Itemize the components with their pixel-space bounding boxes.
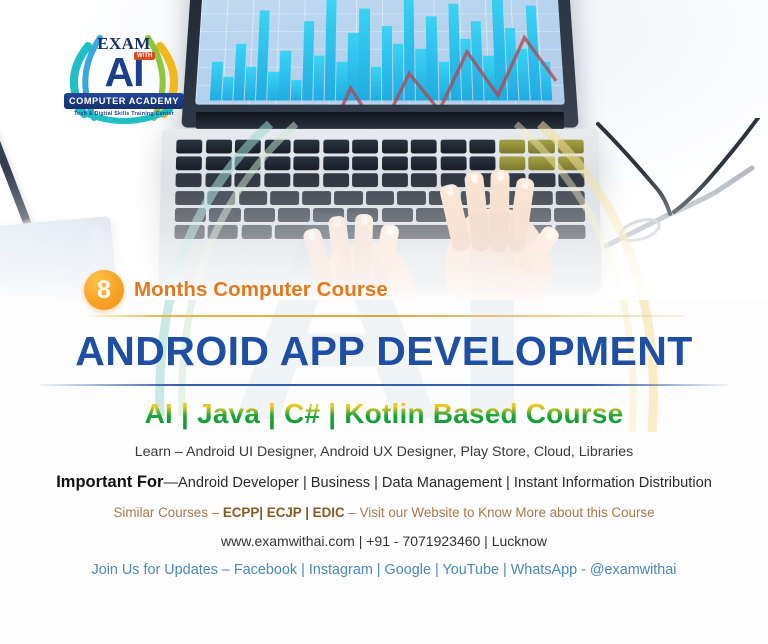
important-for-separator: — <box>163 475 178 491</box>
blue-divider <box>39 384 729 386</box>
keyboard-key <box>323 140 349 154</box>
logo-with-badge: WITH <box>134 52 155 60</box>
logo-academy-band: COMPUTER ACADEMY <box>64 93 184 109</box>
similar-courses-prefix: Similar Courses – <box>113 505 222 520</box>
course-advertisement-poster: AI EXAM AI WITH COMPUTER ACADEMY Tech & … <box>0 0 768 644</box>
months-number-badge: 8 <box>84 270 124 310</box>
logo-academy-text: COMPUTER ACADEMY <box>69 96 179 106</box>
contact-line[interactable]: www.examwithai.com | +91 - 7071923460 | … <box>0 533 768 549</box>
keyboard-key <box>382 157 408 171</box>
months-course-label: Months Computer Course <box>134 278 388 302</box>
brand-logo: EXAM AI WITH COMPUTER ACADEMY Tech & Dig… <box>60 22 188 126</box>
similar-courses-suffix: – Visit our Website to Know More about t… <box>345 505 655 520</box>
keyboard-key <box>352 157 378 171</box>
laptop-screen <box>195 0 565 105</box>
logo-ai-text: AI <box>60 49 188 96</box>
keyboard-key <box>352 140 378 154</box>
keyboard-key <box>323 157 349 171</box>
trend-line <box>195 0 565 105</box>
important-for-line: Important For—Android Developer | Busine… <box>0 473 768 492</box>
important-for-text: Android Developer | Business | Data Mana… <box>178 475 712 491</box>
similar-courses-codes: ECPP| ECJP | EDIC <box>223 505 345 520</box>
social-media-line[interactable]: Join Us for Updates – Facebook | Instagr… <box>0 562 768 578</box>
learn-topics-line: Learn – Android UI Designer, Android UX … <box>0 444 768 460</box>
keyboard-key <box>382 140 408 154</box>
important-for-label: Important For <box>56 473 163 491</box>
page-title: ANDROID APP DEVELOPMENT <box>0 328 768 375</box>
laptop-lid <box>181 0 578 128</box>
logo-tagline: Tech & Digital Skills Training Center <box>60 111 188 117</box>
technologies-subtitle: AI | Java | C# | Kotlin Based Course <box>0 398 768 430</box>
poster-content: 8 Months Computer Course ANDROID APP DEV… <box>0 270 768 578</box>
similar-courses-line: Similar Courses – ECPP| ECJP | EDIC – Vi… <box>0 505 768 520</box>
months-badge-row: 8 Months Computer Course <box>0 270 768 310</box>
gold-divider <box>84 315 684 317</box>
